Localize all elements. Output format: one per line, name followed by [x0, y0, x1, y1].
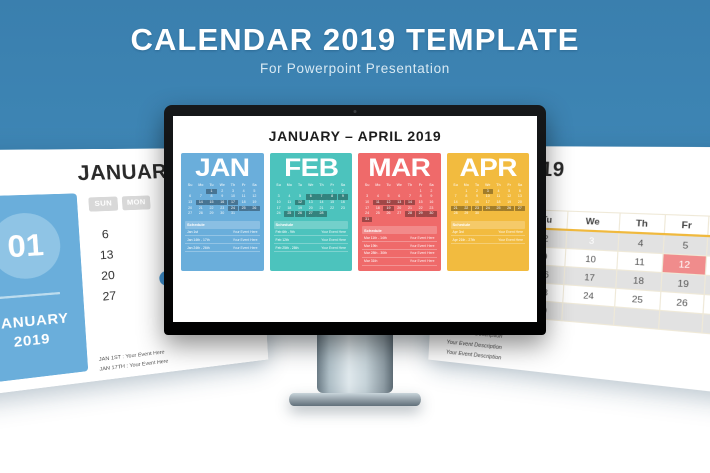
date-cell[interactable]: 13: [515, 194, 525, 199]
schedule-date: Feb 6th - 9th: [276, 230, 295, 234]
date-cell[interactable]: 23: [338, 206, 348, 211]
date-cell[interactable]: 28: [196, 211, 206, 216]
month-name-mar: MAR: [358, 157, 441, 180]
schedule-header-mar: Schedule: [362, 226, 437, 234]
date-cell-empty: [316, 189, 326, 194]
date-cell[interactable]: 10: [362, 200, 372, 205]
date-cell[interactable]: 23: [217, 206, 227, 211]
date-cell[interactable]: 4: [373, 194, 383, 199]
date-cell[interactable]: 12: [295, 200, 305, 205]
date-cell[interactable]: 22: [461, 206, 471, 211]
schedule-row: Mar 19thYour Event Here: [362, 242, 437, 250]
schedule-date: Apr 21th - 27th: [453, 238, 475, 242]
schedule-header-apr: Schedule: [451, 221, 526, 229]
slide-right-date-cell[interactable]: 5: [663, 234, 708, 256]
date-cell[interactable]: 15: [327, 200, 337, 205]
date-cell[interactable]: 10: [274, 200, 284, 205]
date-cell[interactable]: 11: [373, 200, 383, 205]
slide-left-date-cell[interactable]: 20: [93, 269, 123, 284]
date-cell[interactable]: 27: [306, 211, 316, 216]
schedule-event: Your Event Here: [321, 246, 346, 250]
dow-cell: Su: [274, 183, 284, 188]
schedule-date: Jan 1st: [187, 230, 198, 234]
date-cell[interactable]: 18: [284, 206, 294, 211]
date-cell[interactable]: 19: [249, 200, 259, 205]
schedule-event: Your Event Here: [233, 246, 258, 250]
schedule-event: Your Event Here: [321, 230, 346, 234]
schedule-date: Mar 11th - 14th: [364, 236, 387, 240]
month-name-apr: APR: [446, 157, 529, 180]
date-cell-empty: [383, 217, 393, 222]
date-cell[interactable]: 28: [451, 211, 461, 216]
page-header: CALENDAR 2019 TEMPLATE For Powerpoint Pr…: [0, 24, 710, 76]
slide-right-date-cell-empty: [561, 303, 614, 326]
dow-cell: Th: [228, 183, 238, 188]
date-cell[interactable]: 29: [416, 211, 426, 216]
month-grid-apr: SuMoTuWeThFrSa12345678910111213141516171…: [451, 183, 526, 217]
date-cell[interactable]: 16: [472, 200, 482, 205]
schedule-row: Jan 14th - 17thYour Event Here: [185, 236, 260, 244]
month-block-jan[interactable]: JANSuMoTuWeThFrSa12345678910111213141516…: [181, 153, 264, 271]
date-cell[interactable]: 6: [394, 194, 404, 199]
dow-cell: Th: [316, 183, 326, 188]
date-cell[interactable]: 7: [405, 194, 415, 199]
slide-right-dow-cell: Th: [619, 213, 666, 234]
schedule-event: Your Event Here: [498, 238, 523, 242]
schedule-event: Your Event Here: [233, 238, 258, 242]
dow-cell: Fr: [504, 183, 514, 188]
date-cell[interactable]: 15: [206, 200, 216, 205]
dow-cell: Sa: [338, 183, 348, 188]
date-cell-empty: [249, 211, 259, 216]
date-cell-empty: [373, 217, 383, 222]
date-cell[interactable]: 7: [316, 194, 326, 199]
schedule-date: Mar 28th - 30th: [364, 251, 387, 255]
date-cell[interactable]: 23: [472, 206, 482, 211]
slide-left-dow-cell: SUN: [88, 197, 118, 212]
date-cell[interactable]: 9: [426, 194, 436, 199]
month-blocks: JANSuMoTuWeThFrSa12345678910111213141516…: [173, 153, 537, 279]
date-cell-empty: [373, 189, 383, 194]
date-cell-empty: [394, 189, 404, 194]
date-cell[interactable]: 26: [504, 206, 514, 211]
date-cell[interactable]: 24: [362, 211, 372, 216]
date-cell[interactable]: 22: [206, 206, 216, 211]
schedule-event: Your Event Here: [410, 251, 435, 255]
slide-right-date-cell-empty: [659, 310, 704, 333]
schedule-event: Your Event Here: [233, 230, 258, 234]
date-cell[interactable]: 16: [217, 200, 227, 205]
date-cell-empty: [306, 189, 316, 194]
date-cell[interactable]: 31: [228, 211, 238, 216]
date-cell[interactable]: 17: [483, 200, 493, 205]
date-cell[interactable]: 7: [451, 194, 461, 199]
monitor-bezel: JANUARY – APRIL 2019 JANSuMoTuWeThFrSa12…: [164, 105, 546, 335]
date-cell[interactable]: 17: [362, 206, 372, 211]
dow-cell: We: [217, 183, 227, 188]
slide-left-year: 2019: [13, 331, 50, 350]
date-cell[interactable]: 8: [206, 194, 216, 199]
slide-left-month-panel: 01 JANUARY 2019: [0, 193, 88, 384]
schedule-date: Jan 24th - 26th: [187, 246, 210, 250]
date-cell-empty: [196, 189, 206, 194]
date-cell-empty: [416, 217, 426, 222]
schedule-row: Jan 24th - 26thYour Event Here: [185, 244, 260, 252]
date-cell-empty: [504, 211, 514, 216]
date-cell[interactable]: 27: [515, 206, 525, 211]
date-cell[interactable]: 26: [295, 211, 305, 216]
schedule-event: Your Event Here: [410, 259, 435, 263]
date-cell[interactable]: 14: [451, 200, 461, 205]
date-cell[interactable]: 19: [383, 206, 393, 211]
date-cell[interactable]: 3: [483, 189, 493, 194]
date-cell[interactable]: 22: [327, 206, 337, 211]
schedule-date: Apr 3rd: [453, 230, 464, 234]
slide-right-dow-cell: We: [566, 211, 619, 232]
date-cell[interactable]: 28: [316, 211, 326, 216]
date-cell[interactable]: 22: [416, 206, 426, 211]
slide-left-events: JAN 1ST : Your Event HereJAN 17TH : Your…: [99, 348, 169, 374]
date-cell[interactable]: 14: [316, 200, 326, 205]
slide-left-divider: [0, 292, 60, 299]
dow-cell: Mo: [373, 183, 383, 188]
date-cell[interactable]: 8: [416, 194, 426, 199]
dow-cell: Fr: [327, 183, 337, 188]
date-cell[interactable]: 4: [239, 189, 249, 194]
date-cell[interactable]: 20: [185, 206, 195, 211]
date-cell[interactable]: 29: [461, 211, 471, 216]
month-grid-feb: SuMoTuWeThFrSa12345678910111213141516171…: [274, 183, 349, 217]
date-cell[interactable]: 12: [383, 200, 393, 205]
month-block-mar[interactable]: MARSuMoTuWeThFrSa12345678910111213141516…: [358, 153, 441, 271]
schedule-date: Mar 19th: [364, 244, 377, 248]
date-cell[interactable]: 28: [405, 211, 415, 216]
date-cell[interactable]: 25: [239, 206, 249, 211]
date-cell[interactable]: 9: [217, 194, 227, 199]
date-cell[interactable]: 10: [483, 194, 493, 199]
date-cell[interactable]: 8: [461, 194, 471, 199]
date-cell[interactable]: 18: [493, 200, 503, 205]
page-title: CALENDAR 2019 TEMPLATE: [0, 24, 710, 57]
date-cell-empty: [394, 217, 404, 222]
date-cell-empty: [426, 217, 436, 222]
date-cell[interactable]: 29: [206, 211, 216, 216]
slide-left-month-label: JANUARY 2019: [0, 308, 86, 357]
dow-cell: Sa: [249, 183, 259, 188]
page-subtitle: For Powerpoint Presentation: [0, 61, 710, 76]
date-cell-empty: [338, 211, 348, 216]
date-cell[interactable]: 2: [426, 189, 436, 194]
date-cell-empty: [483, 211, 493, 216]
month-name-feb: FEB: [269, 157, 352, 180]
dow-cell: Su: [451, 183, 461, 188]
dow-cell: Sa: [426, 183, 436, 188]
month-name-jan: JAN: [181, 157, 264, 180]
slide-right-dow-cell: Fr: [664, 215, 709, 236]
date-cell[interactable]: 30: [426, 211, 436, 216]
date-cell[interactable]: 3: [228, 189, 238, 194]
date-cell[interactable]: 27: [185, 211, 195, 216]
date-cell[interactable]: 18: [373, 206, 383, 211]
date-cell-empty: [185, 189, 195, 194]
date-cell[interactable]: 14: [196, 200, 206, 205]
date-cell[interactable]: 11: [239, 194, 249, 199]
monitor-stand-neck: [317, 335, 393, 393]
date-cell[interactable]: 21: [405, 206, 415, 211]
date-cell[interactable]: 21: [196, 206, 206, 211]
slide-right-date-cell[interactable]: 4: [618, 232, 665, 254]
date-cell[interactable]: 30: [472, 211, 482, 216]
schedule-event: Your Event Here: [498, 230, 523, 234]
schedule-row: Mar 11th - 14thYour Event Here: [362, 234, 437, 242]
dow-cell: Tu: [295, 183, 305, 188]
date-cell[interactable]: 6: [306, 194, 316, 199]
date-cell[interactable]: 23: [426, 206, 436, 211]
dow-cell: Mo: [284, 183, 294, 188]
date-cell[interactable]: 11: [493, 194, 503, 199]
date-cell[interactable]: 13: [185, 200, 195, 205]
date-cell[interactable]: 26: [249, 206, 259, 211]
date-cell[interactable]: 12: [249, 194, 259, 199]
date-cell[interactable]: 20: [515, 200, 525, 205]
month-grid-mar: SuMoTuWeThFrSa12345678910111213141516171…: [362, 183, 437, 222]
dow-cell: Sa: [515, 183, 525, 188]
dow-cell: Th: [493, 183, 503, 188]
dow-cell: Tu: [472, 183, 482, 188]
date-cell[interactable]: 9: [472, 194, 482, 199]
date-cell[interactable]: 17: [228, 200, 238, 205]
date-cell[interactable]: 24: [483, 206, 493, 211]
date-cell[interactable]: 21: [316, 206, 326, 211]
date-cell[interactable]: 9: [338, 194, 348, 199]
date-cell-empty: [327, 211, 337, 216]
schedule-date: Jan 14th - 17th: [187, 238, 210, 242]
dow-cell: Th: [405, 183, 415, 188]
date-cell[interactable]: 6: [515, 189, 525, 194]
schedule-row: Feb 6th - 9thYour Event Here: [274, 229, 349, 237]
date-cell[interactable]: 2: [217, 189, 227, 194]
schedule-row: Mar 28th - 30thYour Event Here: [362, 250, 437, 258]
date-cell[interactable]: 20: [394, 206, 404, 211]
monitor-stand-base: [289, 393, 421, 406]
schedule-event: Your Event Here: [321, 238, 346, 242]
date-cell[interactable]: 13: [394, 200, 404, 205]
date-cell[interactable]: 4: [284, 194, 294, 199]
date-cell[interactable]: 24: [228, 206, 238, 211]
schedule-row: Apr 3rdYour Event Here: [451, 229, 526, 237]
schedule-event: Your Event Here: [410, 236, 435, 240]
date-cell[interactable]: 1: [461, 189, 471, 194]
schedule-row: Jan 1stYour Event Here: [185, 229, 260, 237]
dow-cell: Fr: [239, 183, 249, 188]
date-cell[interactable]: 19: [504, 200, 514, 205]
date-cell[interactable]: 2: [338, 189, 348, 194]
date-cell[interactable]: 20: [306, 206, 316, 211]
slide-left-date-cell[interactable]: 27: [94, 289, 124, 304]
date-cell[interactable]: 2: [472, 189, 482, 194]
date-cell[interactable]: 14: [405, 200, 415, 205]
date-cell[interactable]: 25: [373, 211, 383, 216]
slide-right-date-cell-empty: [613, 307, 660, 329]
date-cell[interactable]: 5: [295, 194, 305, 199]
date-cell[interactable]: 25: [493, 206, 503, 211]
date-cell[interactable]: 16: [426, 200, 436, 205]
monitor-screen[interactable]: JANUARY – APRIL 2019 JANSuMoTuWeThFrSa12…: [173, 116, 537, 322]
dow-cell: Mo: [196, 183, 206, 188]
date-cell[interactable]: 21: [451, 206, 461, 211]
schedule-date: Feb 25th - 28th: [276, 246, 299, 250]
date-cell-empty: [239, 211, 249, 216]
date-cell-empty: [274, 189, 284, 194]
slide-left-date-cell[interactable]: 6: [90, 228, 120, 243]
dow-cell: Fr: [416, 183, 426, 188]
slide-left-date-cell[interactable]: 13: [92, 248, 122, 263]
date-cell-empty: [383, 189, 393, 194]
date-cell[interactable]: 10: [228, 194, 238, 199]
date-cell[interactable]: 5: [504, 189, 514, 194]
dow-cell: Su: [185, 183, 195, 188]
date-cell[interactable]: 17: [274, 206, 284, 211]
schedule-header-feb: Schedule: [274, 221, 349, 229]
date-cell[interactable]: 11: [284, 200, 294, 205]
date-cell-empty: [295, 189, 305, 194]
schedule-row: Apr 21th - 27thYour Event Here: [451, 236, 526, 244]
slide-right-date-cell-empty: [702, 314, 710, 338]
webcam-icon: [354, 110, 357, 113]
month-block-apr[interactable]: APRSuMoTuWeThFrSa12345678910111213141516…: [447, 153, 530, 271]
date-cell[interactable]: 16: [338, 200, 348, 205]
date-cell[interactable]: 12: [504, 194, 514, 199]
date-cell-empty: [284, 189, 294, 194]
dow-cell: We: [394, 183, 404, 188]
date-cell[interactable]: 24: [274, 211, 284, 216]
schedule-row: Feb 12thYour Event Here: [274, 236, 349, 244]
date-cell[interactable]: 15: [416, 200, 426, 205]
date-cell[interactable]: 5: [249, 189, 259, 194]
dow-cell: We: [306, 183, 316, 188]
date-cell[interactable]: 27: [394, 211, 404, 216]
slide-left-month-number: 01: [0, 212, 62, 281]
date-cell[interactable]: 30: [217, 211, 227, 216]
schedule-row: Mar 31thYour Event Here: [362, 258, 437, 266]
month-grid-jan: SuMoTuWeThFrSa12345678910111213141516171…: [185, 183, 260, 217]
date-cell[interactable]: 25: [284, 211, 294, 216]
monitor: JANUARY – APRIL 2019 JANSuMoTuWeThFrSa12…: [164, 105, 546, 406]
date-cell-empty: [451, 189, 461, 194]
date-cell[interactable]: 6: [185, 194, 195, 199]
date-cell[interactable]: 4: [493, 189, 503, 194]
date-cell[interactable]: 3: [274, 194, 284, 199]
date-cell-empty: [405, 189, 415, 194]
date-cell[interactable]: 7: [196, 194, 206, 199]
dow-cell: We: [483, 183, 493, 188]
date-cell[interactable]: 15: [461, 200, 471, 205]
date-cell[interactable]: 1: [206, 189, 216, 194]
dow-cell: Tu: [206, 183, 216, 188]
date-cell[interactable]: 31: [362, 217, 372, 222]
month-block-feb[interactable]: FEBSuMoTuWeThFrSa12345678910111213141516…: [270, 153, 353, 271]
schedule-date: Feb 12th: [276, 238, 289, 242]
schedule-date: Mar 31th: [364, 259, 377, 263]
date-cell[interactable]: 1: [327, 189, 337, 194]
date-cell-empty: [515, 211, 525, 216]
date-cell[interactable]: 26: [383, 211, 393, 216]
schedule-header-jan: Schedule: [185, 221, 260, 229]
date-cell[interactable]: 18: [239, 200, 249, 205]
date-cell-empty: [493, 211, 503, 216]
date-cell[interactable]: 19: [295, 206, 305, 211]
slide-left-dow-cell: MON: [122, 195, 151, 210]
date-cell[interactable]: 8: [327, 194, 337, 199]
dow-cell: Tu: [383, 183, 393, 188]
slide-left-month-name: JANUARY: [0, 310, 69, 333]
date-cell[interactable]: 13: [306, 200, 316, 205]
date-cell[interactable]: 3: [362, 194, 372, 199]
date-cell[interactable]: 5: [383, 194, 393, 199]
date-cell[interactable]: 1: [416, 189, 426, 194]
schedule-event: Your Event Here: [410, 244, 435, 248]
date-cell-empty: [362, 189, 372, 194]
screen-slide-title: JANUARY – APRIL 2019: [173, 116, 537, 153]
dow-cell: Mo: [461, 183, 471, 188]
dow-cell: Su: [362, 183, 372, 188]
date-cell-empty: [405, 217, 415, 222]
schedule-row: Feb 25th - 28thYour Event Here: [274, 244, 349, 252]
